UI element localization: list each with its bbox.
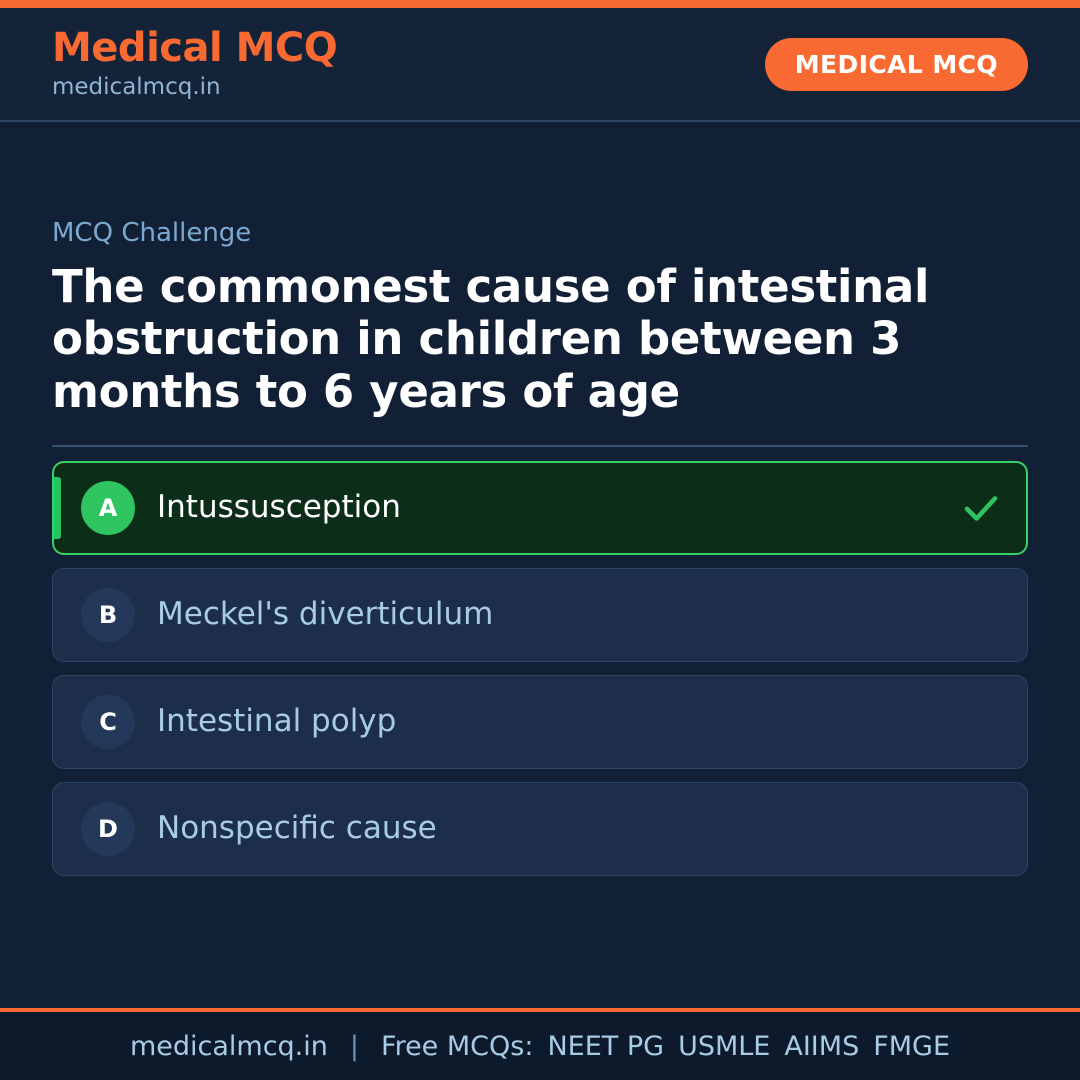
option-letter-badge-d: D <box>81 802 135 856</box>
option-letter-badge-b: B <box>81 588 135 642</box>
option-row-d[interactable]: D Nonspecific cause <box>52 782 1028 876</box>
options-list: A Intussusception B Meckel's diverticulu… <box>52 461 1028 876</box>
option-row-b[interactable]: B Meckel's diverticulum <box>52 568 1028 662</box>
option-text-d: Nonspecific cause <box>157 810 945 847</box>
footer-site-link[interactable]: medicalmcq.in <box>130 1031 328 1062</box>
footer-content: medicalmcq.in | Free MCQs: NEET PG USMLE… <box>130 1031 950 1062</box>
top-accent-bar <box>0 0 1080 8</box>
brand: Medical MCQ medicalmcq.in <box>52 27 337 102</box>
option-row-a[interactable]: A Intussusception <box>52 461 1028 555</box>
correct-accent-bar <box>54 477 61 539</box>
header-badge: MEDICAL MCQ <box>765 38 1028 91</box>
option-text-a: Intussusception <box>157 489 944 526</box>
option-letter-badge-a: A <box>81 481 135 535</box>
footer-separator: | <box>350 1031 359 1062</box>
mcq-card: Medical MCQ medicalmcq.in MEDICAL MCQ MC… <box>0 0 1080 1080</box>
header: Medical MCQ medicalmcq.in MEDICAL MCQ <box>0 8 1080 122</box>
footer-exam-neet-pg[interactable]: NEET PG <box>547 1031 664 1062</box>
footer-exam-fmge[interactable]: FMGE <box>873 1031 950 1062</box>
brand-title: Medical MCQ <box>52 27 337 69</box>
option-row-c[interactable]: C Intestinal polyp <box>52 675 1028 769</box>
footer-label: Free MCQs: <box>381 1031 533 1062</box>
option-text-b: Meckel's diverticulum <box>157 596 945 633</box>
section-divider <box>52 445 1028 447</box>
option-letter-badge-c: C <box>81 695 135 749</box>
kicker-label: MCQ Challenge <box>52 218 1028 249</box>
footer-exam-usmle[interactable]: USMLE <box>678 1031 770 1062</box>
brand-subtitle: medicalmcq.in <box>52 73 337 102</box>
main-content: MCQ Challenge The commonest cause of int… <box>0 122 1080 1008</box>
footer-exam-aiims[interactable]: AIIMS <box>784 1031 859 1062</box>
question-text: The commonest cause of intestinal obstru… <box>52 261 1012 418</box>
check-icon <box>960 487 1002 529</box>
footer: medicalmcq.in | Free MCQs: NEET PG USMLE… <box>0 1008 1080 1080</box>
option-text-c: Intestinal polyp <box>157 703 945 740</box>
